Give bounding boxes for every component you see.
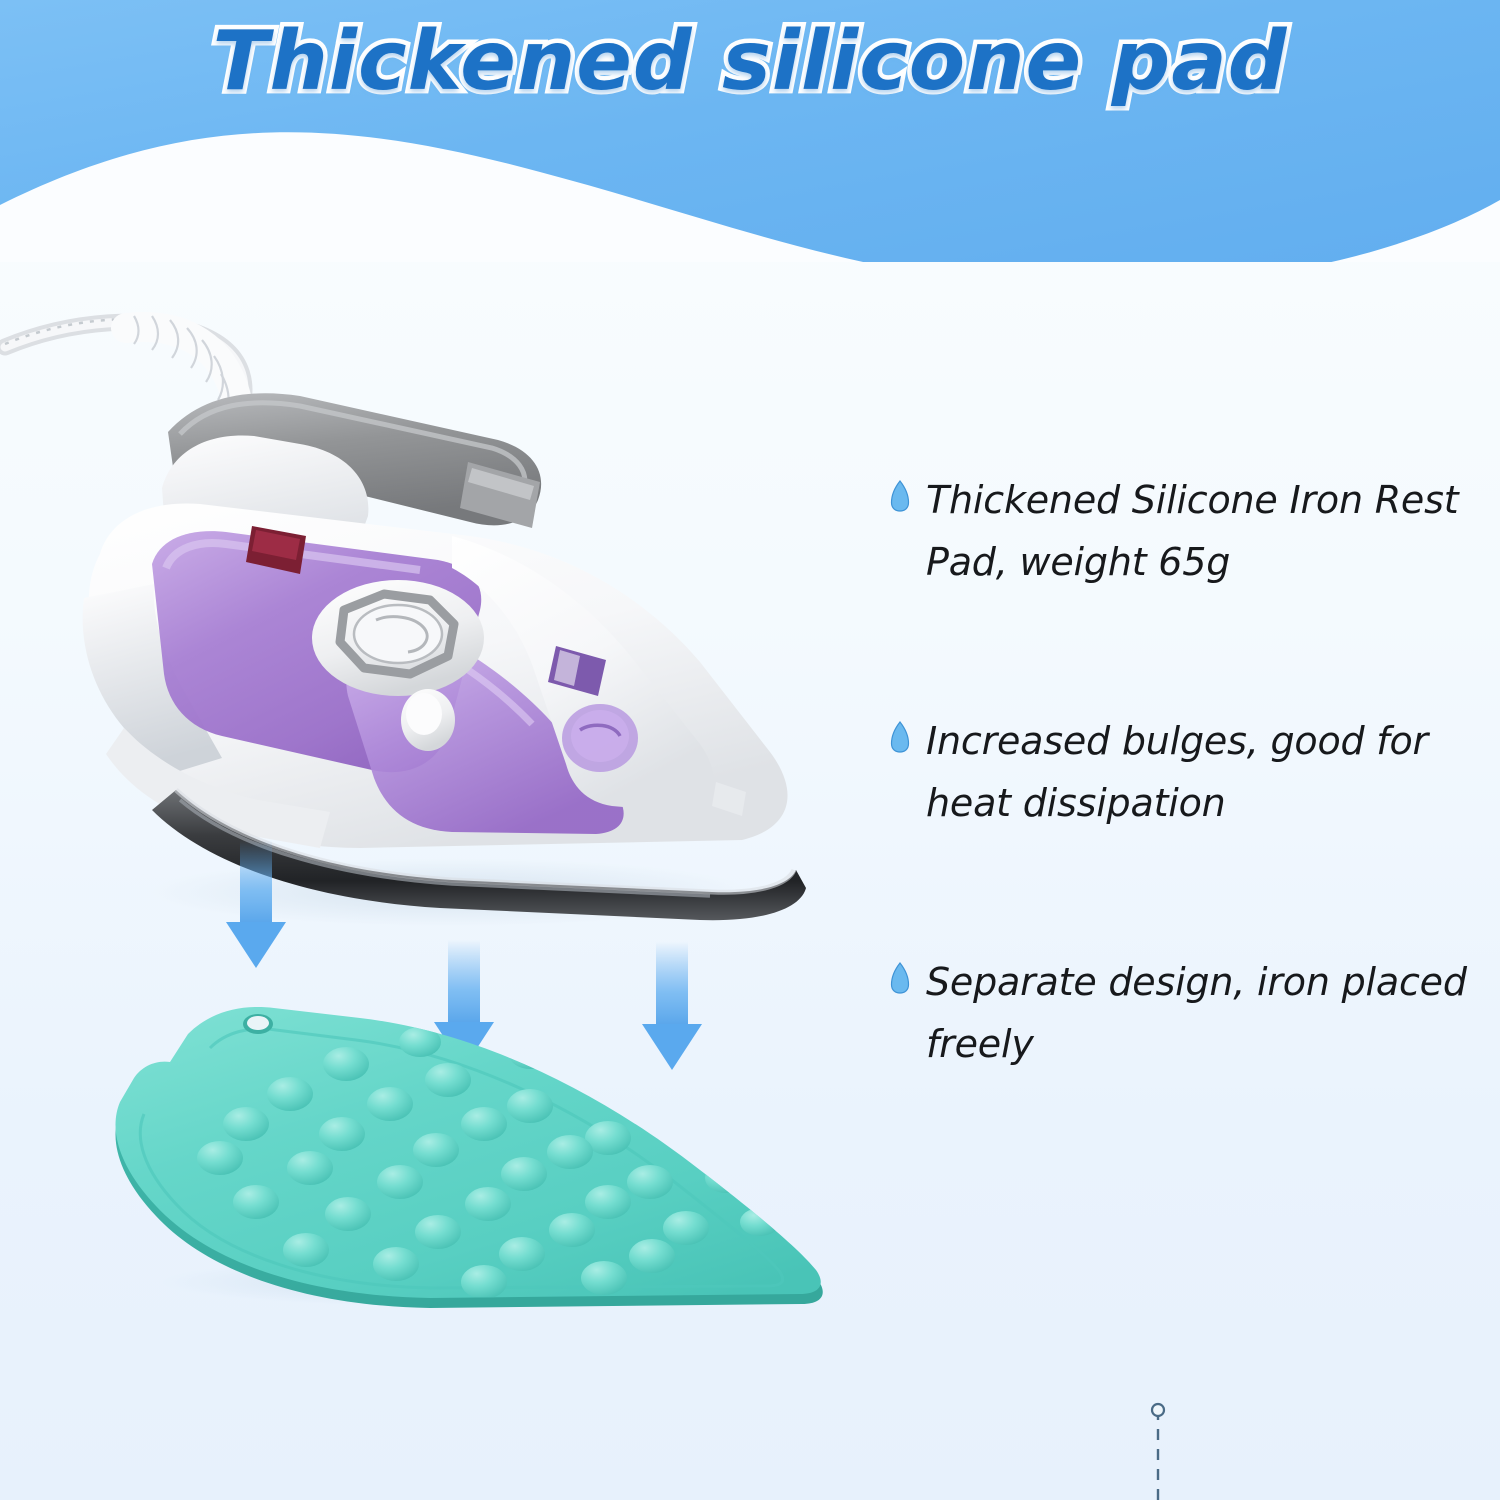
iron-soleplate-bullet-icon — [890, 721, 910, 753]
feature-item: Thickened Silicone Iron Rest Pad, weight… — [890, 470, 1490, 593]
steam-control-knob[interactable] — [312, 580, 484, 696]
feature-item: Separate design, iron placed freely — [890, 952, 1490, 1075]
feature-item: Increased bulges, good for heat dissipat… — [890, 711, 1490, 834]
silicone-pad-illustration — [60, 982, 880, 1312]
iron-soleplate-bullet-icon — [890, 480, 910, 512]
feature-text: Increased bulges, good for heat dissipat… — [926, 711, 1471, 834]
product-stage — [0, 262, 900, 1500]
dimension-endpoint-top — [1152, 1404, 1164, 1416]
iron-soleplate-bullet-icon — [890, 962, 910, 994]
spray-button-top — [406, 693, 442, 735]
page-title: Thickened silicone pad — [0, 14, 1500, 109]
pad-hanging-hole — [243, 1014, 273, 1034]
header-banner: Thickened silicone pad — [0, 0, 1500, 262]
product-infographic-page: Thickened silicone pad — [0, 0, 1500, 1500]
dimension-callout-lines — [820, 1382, 1220, 1500]
feature-list: Thickened Silicone Iron Rest Pad, weight… — [890, 470, 1490, 1193]
feature-text: Thickened Silicone Iron Rest Pad, weight… — [926, 470, 1471, 593]
steam-iron-illustration — [0, 292, 860, 932]
wave-white — [0, 132, 1500, 262]
temperature-dial[interactable] — [562, 704, 638, 772]
feature-text: Separate design, iron placed freely — [926, 952, 1471, 1075]
